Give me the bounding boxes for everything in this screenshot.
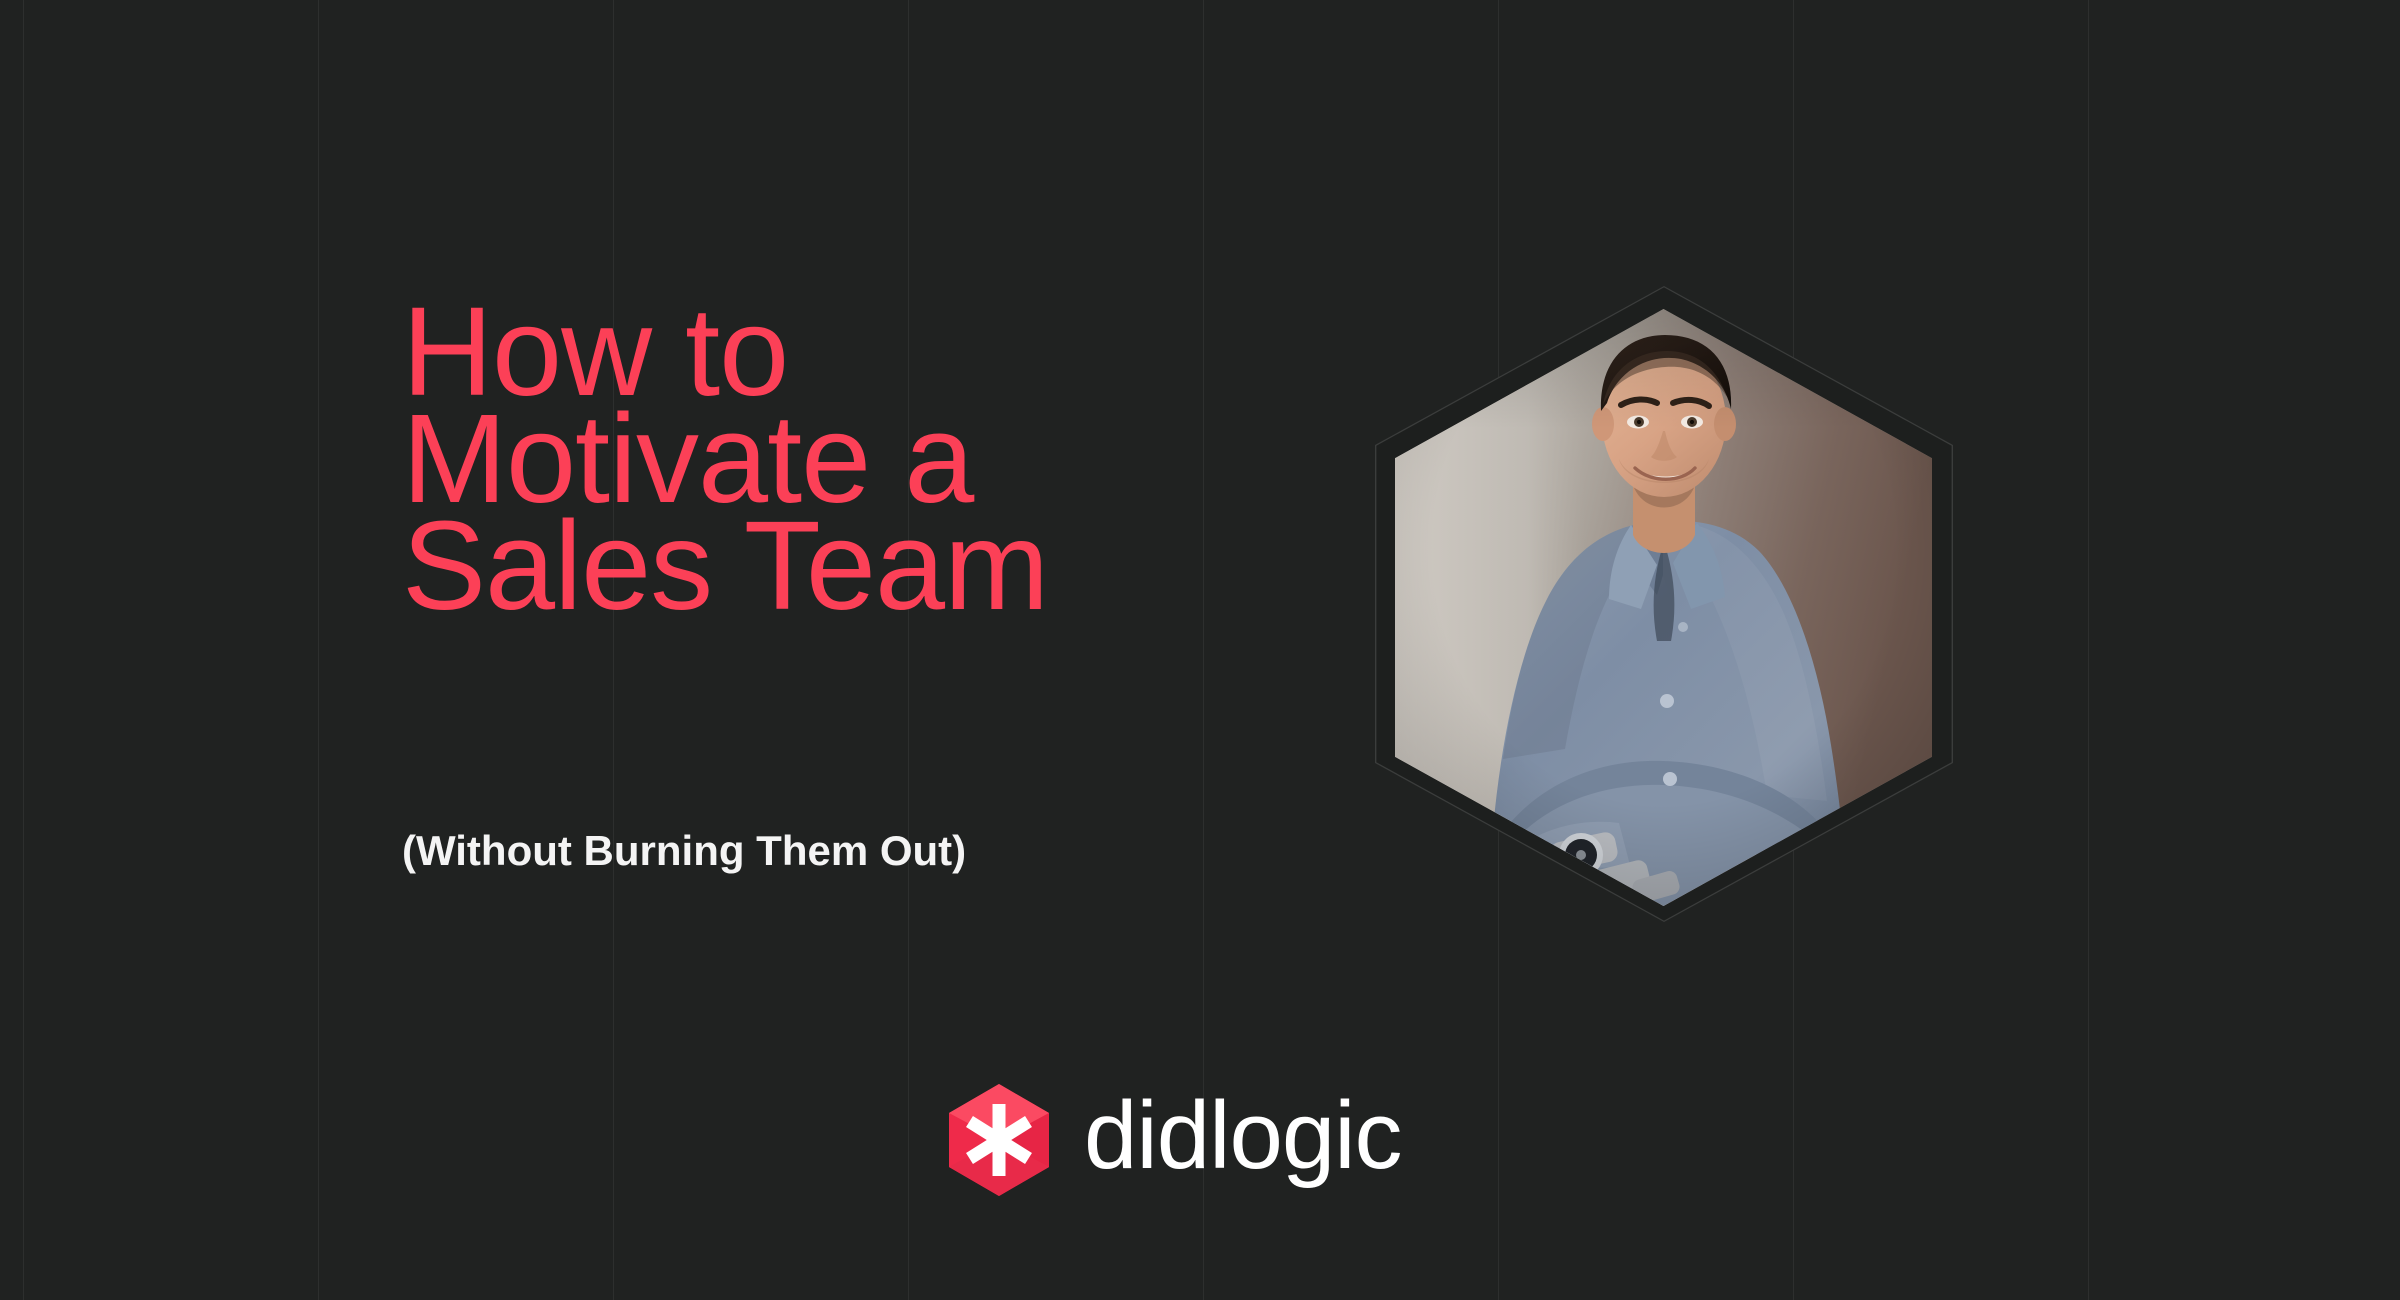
didlogic-hexagon-asterisk-icon xyxy=(947,1082,1051,1198)
subtitle: (Without Burning Them Out) xyxy=(402,827,966,875)
didlogic-wordmark: didlogic xyxy=(1084,1088,1402,1192)
brand-logo: didlogic xyxy=(947,1082,1402,1198)
title-line-3: Sales Team xyxy=(402,512,1302,619)
portrait-frame xyxy=(1355,272,1975,942)
page-title: How to Motivate a Sales Team xyxy=(402,298,1302,619)
social-card: How to Motivate a Sales Team (Without Bu… xyxy=(0,0,2400,1300)
